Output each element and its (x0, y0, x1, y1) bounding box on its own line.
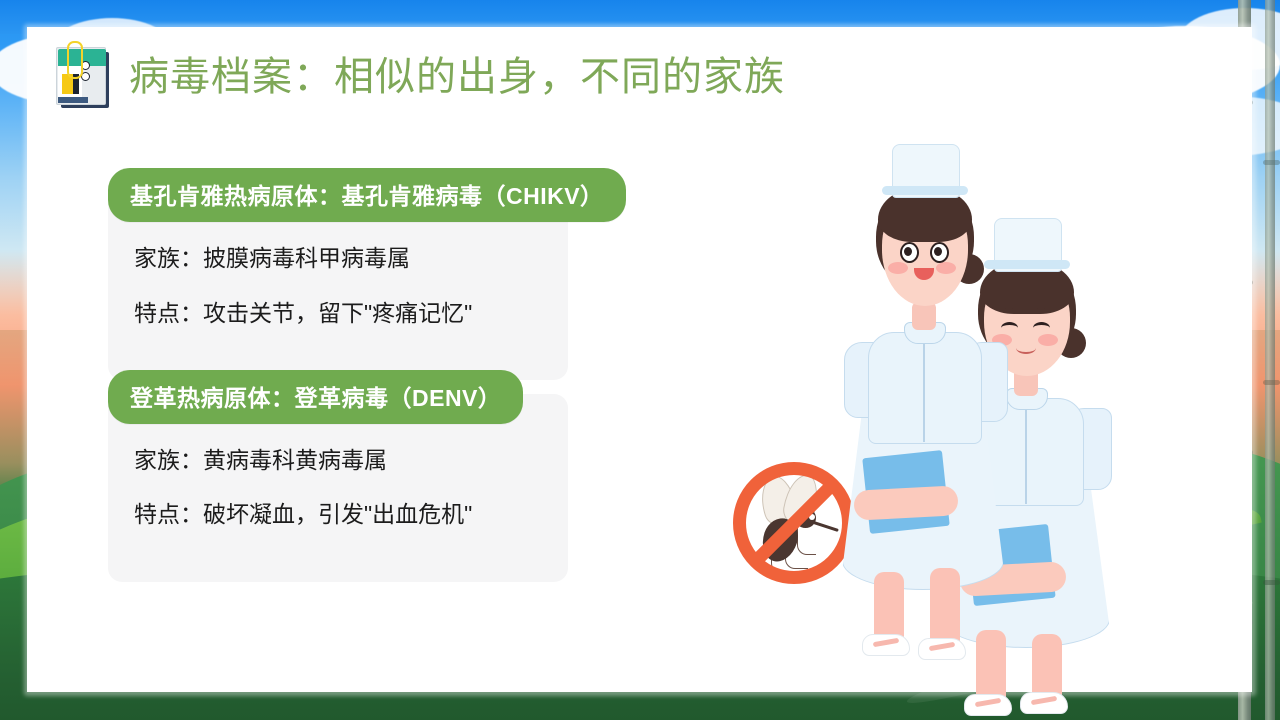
notebook-icon (55, 46, 111, 108)
slide-canvas: 病毒档案：相似的出身，不同的家族 基孔肯雅热病原体：基孔肯雅病毒（CHIKV） … (0, 0, 1280, 720)
card-line-feature: 特点：攻击关节，留下"疼痛记忆" (134, 299, 708, 328)
virus-card-denv: 登革热病原体：登革病毒（DENV） 家族：黄病毒科黄病毒属 特点：破坏凝血，引发… (108, 370, 708, 530)
card-line-feature: 特点：破坏凝血，引发"出血危机" (134, 500, 708, 529)
card-line-family: 家族：披膜病毒科甲病毒属 (134, 244, 708, 273)
page-title: 病毒档案：相似的出身，不同的家族 (129, 57, 785, 97)
no-mosquito-icon (733, 462, 855, 584)
two-nurses-illustration (840, 136, 1140, 656)
paperclip-icon (67, 41, 83, 79)
virus-profile-list: 基孔肯雅热病原体：基孔肯雅病毒（CHIKV） 家族：披膜病毒科甲病毒属 特点：攻… (108, 168, 708, 571)
card-body-denv: 家族：黄病毒科黄病毒属 特点：破坏凝血，引发"出血危机" (108, 424, 708, 530)
card-line-family: 家族：黄病毒科黄病毒属 (134, 446, 708, 475)
bamboo-stalk (1265, 0, 1275, 720)
title-row: 病毒档案：相似的出身，不同的家族 (55, 46, 785, 108)
card-header-denv: 登革热病原体：登革病毒（DENV） (108, 370, 523, 424)
card-header-chikv: 基孔肯雅热病原体：基孔肯雅病毒（CHIKV） (108, 168, 626, 222)
virus-card-chikv: 基孔肯雅热病原体：基孔肯雅病毒（CHIKV） 家族：披膜病毒科甲病毒属 特点：攻… (108, 168, 708, 328)
card-body-chikv: 家族：披膜病毒科甲病毒属 特点：攻击关节，留下"疼痛记忆" (108, 222, 708, 328)
